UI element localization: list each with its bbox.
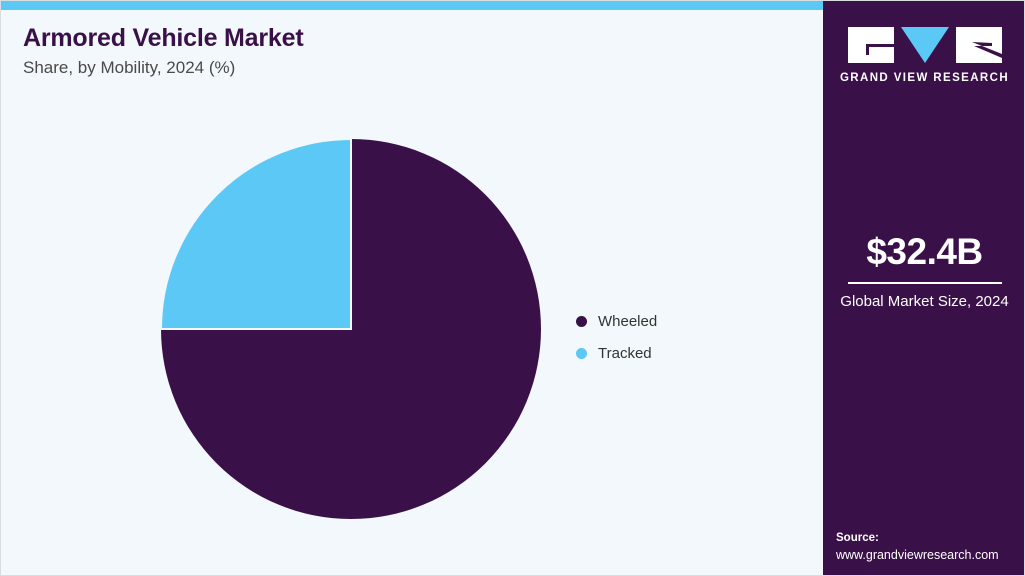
pie-chart	[161, 139, 541, 519]
logo-marks	[823, 27, 1025, 63]
legend-swatch-wheeled	[576, 316, 587, 327]
chart-area: Armored Vehicle Market Share, by Mobilit…	[1, 10, 823, 576]
legend-label-tracked: Tracked	[598, 345, 652, 362]
market-size-divider	[848, 282, 1002, 284]
side-panel: GRAND VIEW RESEARCH $32.4B Global Market…	[823, 1, 1025, 576]
market-size-value: $32.4B	[835, 233, 1014, 272]
market-size-caption: Global Market Size, 2024	[835, 292, 1014, 312]
market-size-block: $32.4B Global Market Size, 2024	[823, 233, 1025, 312]
chart-header: Armored Vehicle Market Share, by Mobilit…	[23, 24, 303, 78]
source-label: Source:	[836, 530, 1025, 547]
logo-wordmark: GRAND VIEW RESEARCH	[823, 72, 1025, 84]
pie-slice-tracked[interactable]	[161, 139, 351, 329]
top-accent-bar	[1, 1, 823, 10]
page-title: Armored Vehicle Market	[23, 24, 303, 53]
legend-item-tracked[interactable]: Tracked	[576, 337, 657, 369]
page-subtitle: Share, by Mobility, 2024 (%)	[23, 58, 303, 78]
source-url[interactable]: www.grandviewresearch.com	[836, 547, 1025, 563]
legend-label-wheeled: Wheeled	[598, 313, 657, 330]
source-block: Source: www.grandviewresearch.com	[836, 530, 1025, 563]
brand-logo: GRAND VIEW RESEARCH	[823, 27, 1025, 84]
gvr-g-mark-icon	[848, 27, 894, 63]
legend-item-wheeled[interactable]: Wheeled	[576, 305, 657, 337]
gvr-r-mark-icon	[956, 27, 1002, 63]
chart-legend: Wheeled Tracked	[576, 305, 657, 369]
gvr-v-triangle-icon	[901, 27, 949, 63]
chart-card: Armored Vehicle Market Share, by Mobilit…	[0, 0, 1025, 576]
legend-swatch-tracked	[576, 348, 587, 359]
